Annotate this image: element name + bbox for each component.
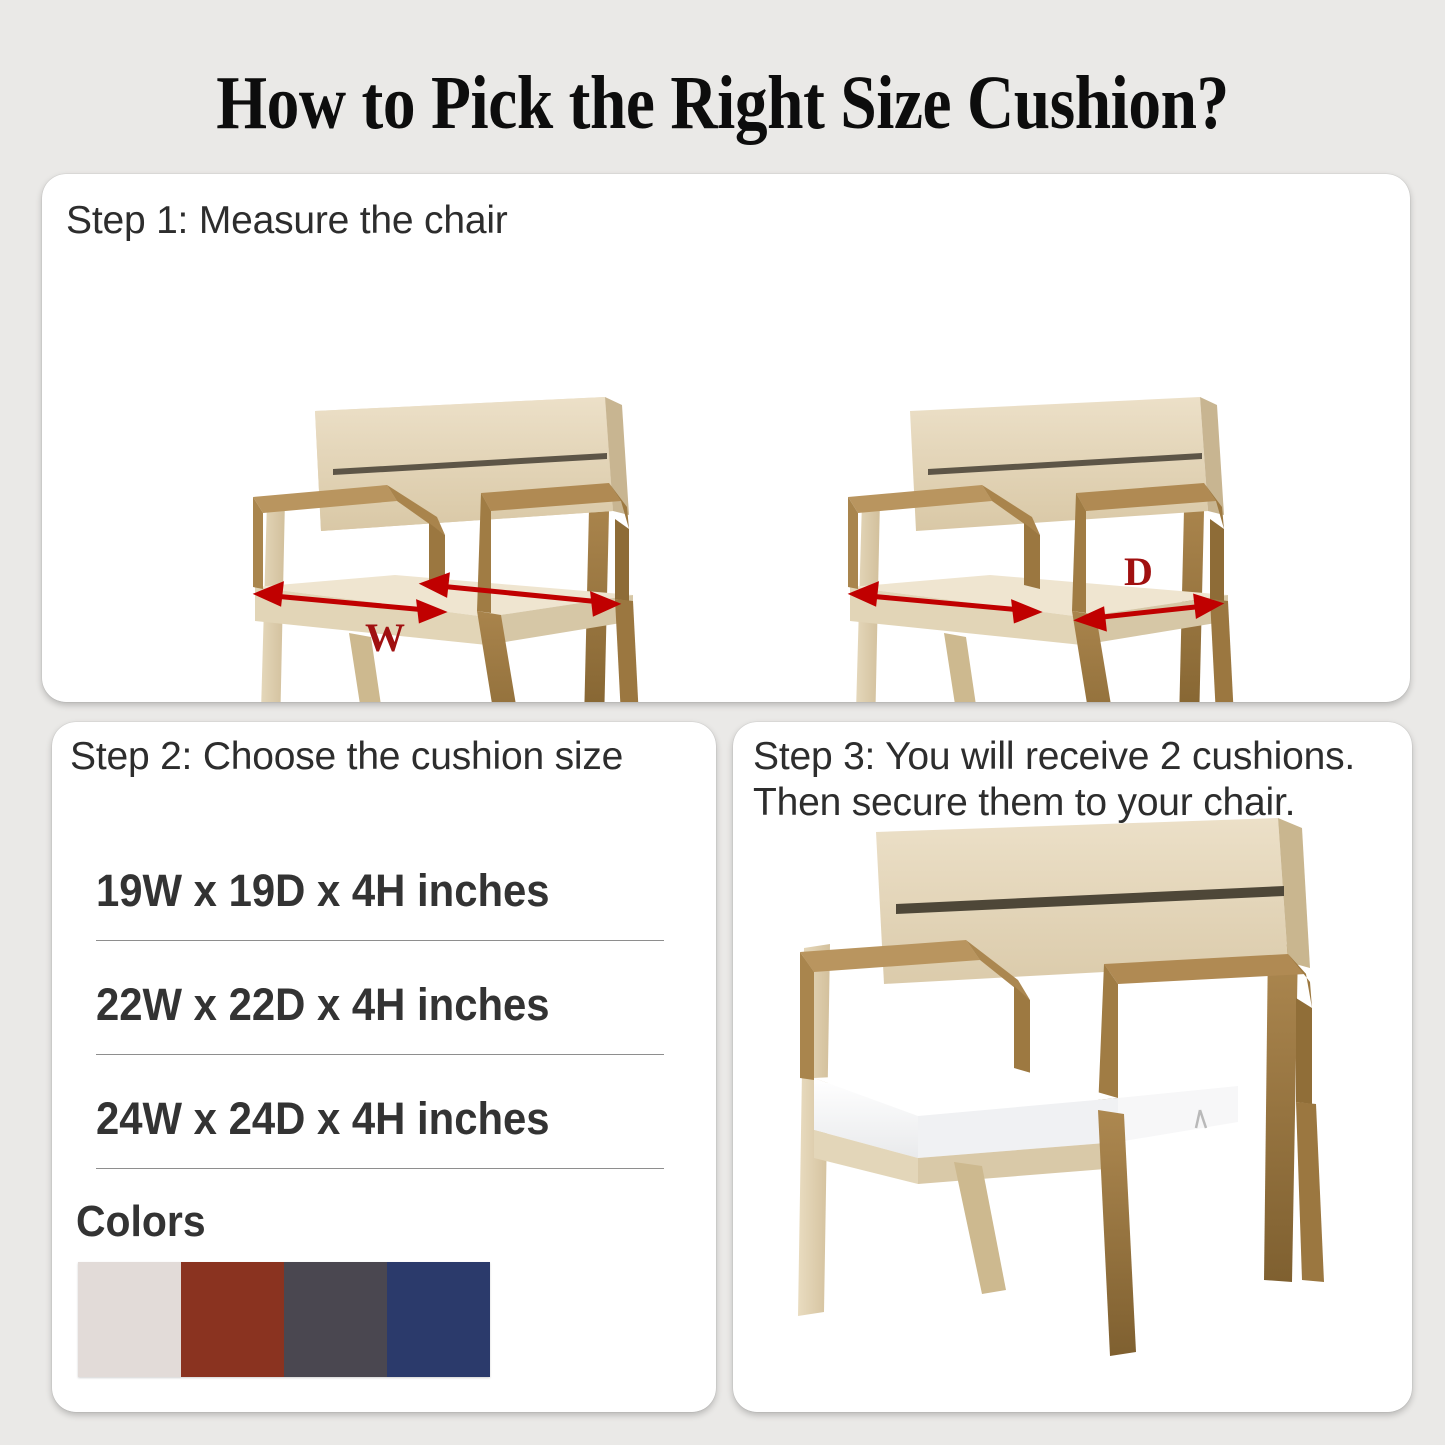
step2-heading: Step 2: Choose the cushion size	[70, 734, 623, 780]
cushion-size-list: 19W x 19D x 4H inches 22W x 22D x 4H inc…	[96, 860, 668, 1202]
colors-label: Colors	[76, 1197, 206, 1247]
depth-label: D	[1124, 549, 1153, 594]
page-title: How to Pick the Right Size Cushion?	[101, 60, 1344, 147]
size-option-row[interactable]: 24W x 24D x 4H inches	[96, 1088, 668, 1202]
size-divider	[96, 1054, 664, 1055]
color-swatch-cream[interactable]	[78, 1262, 181, 1377]
chair-width-diagram: W	[237, 389, 657, 702]
color-swatch-row	[78, 1262, 490, 1377]
step1-panel: Step 1: Measure the chair	[42, 174, 1410, 702]
size-option-row[interactable]: 19W x 19D x 4H inches	[96, 860, 668, 974]
size-option-label: 22W x 22D x 4H inches	[96, 974, 628, 1036]
chair-depth-diagram: D	[832, 389, 1252, 702]
color-swatch-navy-blue[interactable]	[387, 1262, 490, 1377]
size-option-label: 24W x 24D x 4H inches	[96, 1088, 628, 1150]
size-divider	[96, 1168, 664, 1169]
size-divider	[96, 940, 664, 941]
size-option-row[interactable]: 22W x 22D x 4H inches	[96, 974, 668, 1088]
color-swatch-dark-slate[interactable]	[284, 1262, 387, 1377]
step3-panel: Step 3: You will receive 2 cushions. The…	[733, 722, 1412, 1412]
color-swatch-rust-red[interactable]	[181, 1262, 284, 1377]
size-option-label: 19W x 19D x 4H inches	[96, 860, 628, 922]
width-label: W	[365, 615, 405, 660]
step1-heading: Step 1: Measure the chair	[66, 198, 508, 244]
chair-with-cushion-diagram	[768, 812, 1378, 1392]
